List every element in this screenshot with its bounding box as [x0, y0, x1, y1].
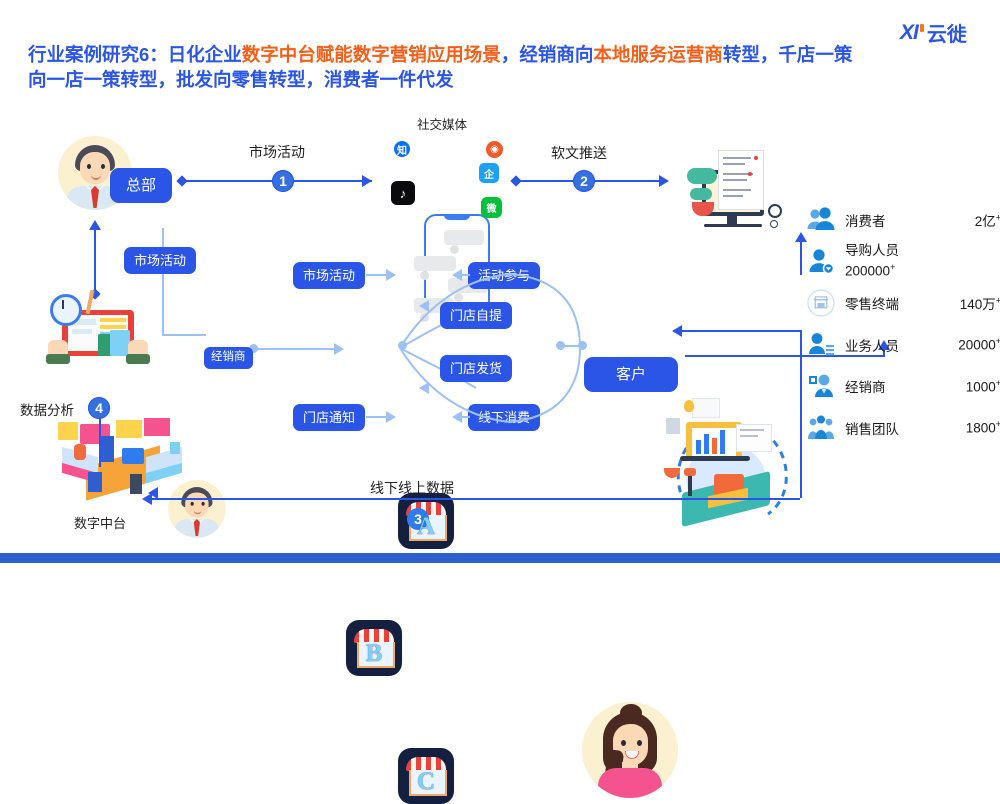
bottom-bar [0, 553, 1000, 563]
retail-store-icon [806, 288, 836, 318]
legend-value: 140万+ [960, 293, 1000, 313]
flow-line-3 [150, 498, 800, 500]
legend-value: 1800+ [966, 419, 1000, 436]
douyin-icon: ♪ [391, 181, 415, 205]
node-data-platform-label: 数字中台 [74, 513, 126, 532]
store-b-tile[interactable]: B [346, 620, 402, 676]
legend-value: 20000+ [958, 336, 1000, 353]
customer-inbound-arrowhead-icon [672, 325, 682, 337]
dealer-icon [806, 371, 836, 401]
title-segment-3: 转型，千店一策 [723, 44, 853, 65]
legend-label: 导购人员 [845, 243, 899, 259]
consumers-icon [806, 205, 836, 235]
legend-value: 2亿+ [975, 210, 1000, 230]
legend-row-guide-staff[interactable]: 导购人员 200000+ [806, 244, 1000, 280]
customer-junction-line [560, 345, 582, 347]
title-segment-4: 向一店一策转型，批发向零售转型，消费者一件代发 [28, 69, 454, 90]
delivery-arrowhead-icon [419, 382, 429, 394]
title-highlight-1: 数字中台赋能数字营销应用场景 [242, 44, 501, 65]
pickup-arrowhead-icon [419, 300, 429, 312]
logistics-illustration [662, 396, 802, 536]
legend-label: 零售终端 [845, 293, 899, 313]
flow-label-soft-article-push: 软文推送 [551, 143, 607, 163]
node-social-media-label: 社交媒体 [417, 114, 467, 133]
sales-team-icon [806, 413, 836, 443]
legend-label: 业务人员 [845, 335, 899, 355]
title-highlight-2: 本地服务运营商 [593, 44, 723, 65]
flow-1-arrowhead-icon [362, 175, 372, 187]
store-a-letter: A [417, 513, 435, 541]
hq-data-up-arrowhead-icon [89, 220, 101, 230]
legend-row-sales-staff[interactable]: 业务人员 20000+ [806, 327, 1000, 363]
legend-label: 消费者 [845, 210, 886, 230]
wechat-icon: 微 [481, 197, 502, 218]
market-activity-branch-line [162, 228, 164, 334]
flow-label-offline-online-data: 线下线上数据 [370, 478, 454, 498]
flow-2-arrowhead-icon [659, 175, 669, 187]
guide-staff-icon [806, 247, 836, 277]
title-segment-2: ，经销商向 [501, 44, 594, 65]
flow-label-store-pickup[interactable]: 门店自提 [440, 302, 512, 329]
legend-value: 200000+ [845, 259, 899, 280]
store-b-letter: B [366, 640, 383, 668]
legend-label: 销售团队 [845, 418, 899, 438]
monitor-down-line [800, 240, 802, 275]
legend-row-retail-store[interactable]: 零售终端 140万+ [806, 285, 1000, 321]
legend-row-consumers[interactable]: 消费者 2亿+ [806, 202, 1000, 238]
step-circle-1: 1 [272, 170, 294, 192]
node-dealer[interactable]: 经销商 [204, 347, 253, 369]
logo-mark: XI [900, 21, 918, 45]
store-c-tile[interactable]: C [398, 748, 454, 804]
node-headquarters[interactable]: 总部 [110, 168, 172, 203]
flow-label-store-delivery[interactable]: 门店发货 [440, 355, 512, 382]
store-customer-connector-curves [280, 240, 600, 440]
data-platform-illustration [58, 418, 188, 506]
store-c-letter: C [417, 768, 435, 796]
slide-canvas: XI 云徙 行业案例研究6：日化企业数字中台赋能数字营销应用场景，经销商向本地服… [0, 0, 1000, 563]
flow-label-data-analysis: 数据分析 [20, 399, 74, 419]
article-monitor-illustration [684, 142, 788, 242]
legend-label: 经销商 [845, 376, 886, 396]
weibo-icon: ◉ [486, 141, 503, 158]
legend-row-sales-team[interactable]: 销售团队 1800+ [806, 410, 1000, 446]
metrics-legend: 消费者 2亿+ 导购人员 200000+ [806, 202, 1000, 451]
market-activity-branch-h [162, 334, 206, 336]
flow-label-market-activity-top: 市场活动 [249, 142, 305, 162]
step-circle-4: 4 [88, 397, 110, 419]
hq-data-line [94, 228, 96, 294]
logo-dot-icon [920, 24, 924, 32]
legend-stacked-text: 导购人员 200000+ [845, 243, 899, 280]
sales-staff-icon [806, 330, 836, 360]
customer-avatar [582, 702, 678, 798]
customer-inbound-line [680, 330, 800, 332]
node-customer[interactable]: 客户 [584, 357, 678, 392]
qq-icon: 企 [479, 163, 499, 183]
title-segment-1: 行业案例研究6：日化企业 [28, 44, 242, 65]
flow-label-market-activity-vertical[interactable]: 市场活动 [124, 247, 196, 274]
legend-row-dealer[interactable]: 经销商 1000+ [806, 368, 1000, 404]
legend-value: 1000+ [966, 378, 1000, 395]
zhihu-icon: 知 [394, 141, 410, 157]
legend-spine-line [800, 330, 802, 498]
step-circle-2: 2 [573, 170, 595, 192]
page-title: 行业案例研究6：日化企业数字中台赋能数字营销应用场景，经销商向本地服务运营商转型… [28, 42, 978, 92]
data-board-illustration [42, 288, 152, 372]
